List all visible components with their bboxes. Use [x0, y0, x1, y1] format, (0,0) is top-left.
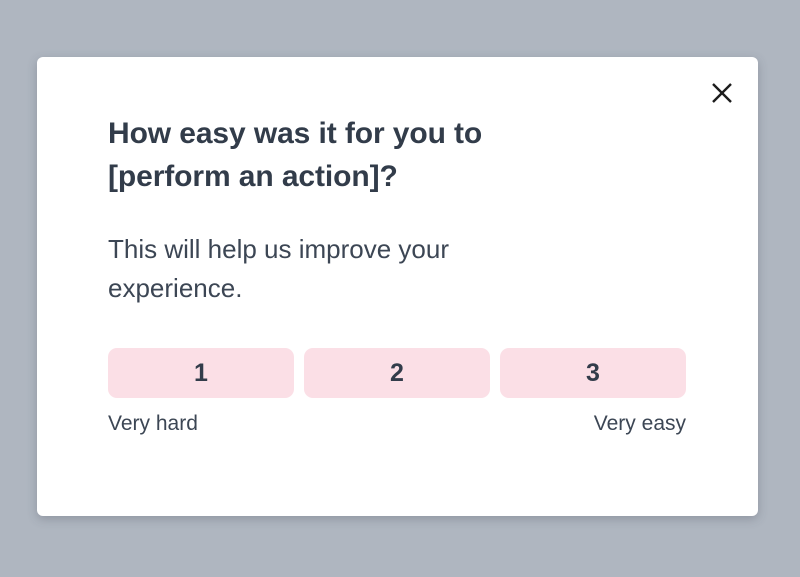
- close-button[interactable]: [702, 73, 742, 113]
- modal-body: How easy was it for you to [perform an a…: [108, 113, 708, 438]
- scale-label-high: Very easy: [594, 410, 686, 437]
- scale-label-low: Very hard: [108, 410, 198, 437]
- modal-subtitle: This will help us improve your experienc…: [108, 199, 578, 307]
- close-icon: [709, 80, 735, 106]
- rating-option-1[interactable]: 1: [108, 348, 294, 398]
- feedback-modal: How easy was it for you to [perform an a…: [37, 57, 758, 516]
- rating-option-2[interactable]: 2: [304, 348, 490, 398]
- rating-option-3[interactable]: 3: [500, 348, 686, 398]
- page-title: How easy was it for you to [perform an a…: [108, 113, 578, 199]
- scale-labels: Very hard Very easy: [108, 398, 686, 437]
- rating-scale: 1 2 3: [108, 307, 686, 398]
